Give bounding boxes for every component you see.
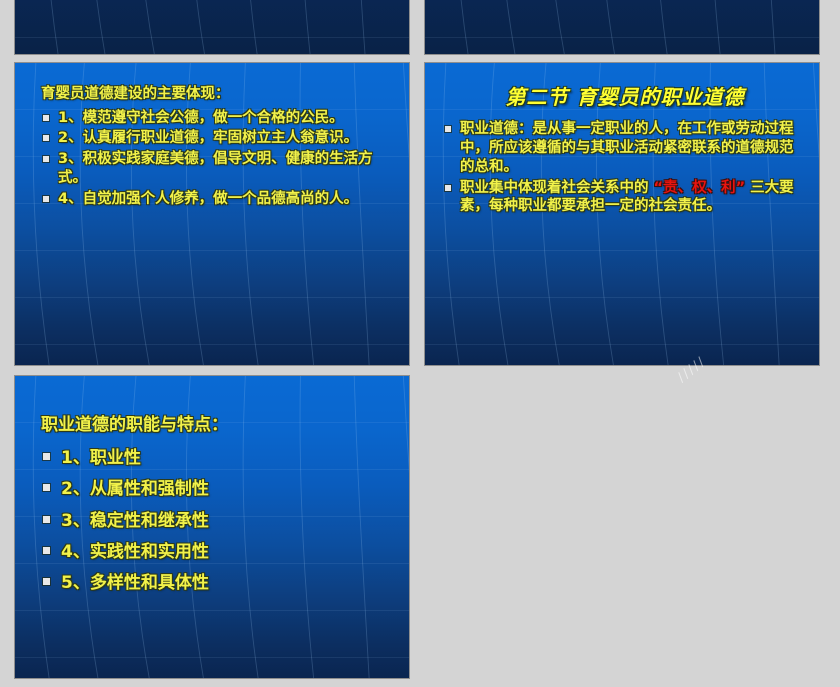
bullet-square-icon [445, 185, 451, 191]
bullet-square-icon [43, 578, 50, 585]
list-item: 1、模范遵守社会公德，做一个合格的公民。 [41, 109, 395, 128]
list-item: 2、认真履行职业道德，牢固树立主人翁意识。 [41, 129, 395, 148]
list-item-label: 4、实践性和实用性 [61, 542, 209, 562]
list-item-label: 3、稳定性和继承性 [61, 511, 209, 531]
bullet-square-icon [43, 453, 50, 460]
empty-slide-slot [424, 375, 820, 679]
list-item-label: 1、模范遵守社会公德，做一个合格的公民。 [58, 110, 344, 126]
list-item-label-part-1: 职业集中体现着社会关系中的 [460, 180, 649, 196]
list-item: 4、实践性和实用性 [41, 539, 395, 565]
list-item-label: 5、多样性和具体性 [61, 573, 209, 593]
slide-thumbnail-moral-construction[interactable]: 育婴员道德建设的主要体现： 1、模范遵守社会公德，做一个合格的公民。 2、认真履… [14, 62, 410, 366]
bullet-list: 1、职业性 2、从属性和强制性 3、稳定性和继承性 4、实践性和实用性 5、多样… [41, 445, 395, 597]
list-item: 3、积极实践家庭美德，倡导文明、健康的生活方式。 [41, 150, 395, 188]
list-item: 5、多样性和具体性 [41, 570, 395, 596]
slide-heading: 职业道德的职能与特点： [41, 414, 395, 437]
slide-thumbnail-functions-features[interactable]: 职业道德的职能与特点： 1、职业性 2、从属性和强制性 3、稳定性和继承性 4、… [14, 375, 410, 679]
bullet-square-icon [43, 516, 50, 523]
bullet-list: 职业道德：是从事一定职业的人，在工作或劳动过程中，所应该遵循的与其职业活动紧密联… [443, 120, 807, 216]
bullet-square-icon [43, 196, 49, 202]
bullet-square-icon [43, 115, 49, 121]
list-item-label: 1、职业性 [61, 448, 141, 468]
bullet-square-icon [445, 126, 451, 132]
list-item-label: 2、认真履行职业道德，牢固树立主人翁意识。 [58, 130, 358, 146]
slide-heading: 育婴员道德建设的主要体现： [41, 85, 395, 105]
list-item: 4、自觉加强个人修养，做一个品德高尚的人。 [41, 190, 395, 209]
slide-content: 第二节 育婴员的职业道德 职业道德：是从事一定职业的人，在工作或劳动过程中，所应… [425, 63, 819, 365]
list-item: 3、稳定性和继承性 [41, 508, 395, 534]
slide-content: 育婴员道德建设的主要体现： 1、模范遵守社会公德，做一个合格的公民。 2、认真履… [15, 63, 409, 365]
list-item: 1、职业性 [41, 445, 395, 471]
list-item: 职业集中体现着社会关系中的 “责、权、利” 三大要素，每种职业都要承担一定的社会… [443, 179, 807, 217]
bullet-square-icon [43, 484, 50, 491]
list-item-label-accent: “责、权、利” [649, 180, 751, 196]
list-item-label: 4、自觉加强个人修养，做一个品德高尚的人。 [58, 191, 358, 207]
bullet-square-icon [43, 156, 49, 162]
bullet-square-icon [43, 135, 49, 141]
list-item: 职业道德：是从事一定职业的人，在工作或劳动过程中，所应该遵循的与其职业活动紧密联… [443, 120, 807, 177]
list-item-label: 职业道德：是从事一定职业的人，在工作或劳动过程中，所应该遵循的与其职业活动紧密联… [460, 121, 794, 175]
slide-content: 职业道德的职能与特点： 1、职业性 2、从属性和强制性 3、稳定性和继承性 4、… [15, 376, 409, 678]
slide-background [15, 0, 409, 54]
slide-background [425, 0, 819, 54]
slide-thumbnail-stub-left[interactable] [14, 0, 410, 55]
slide-thumbnail-section-two[interactable]: 第二节 育婴员的职业道德 职业道德：是从事一定职业的人，在工作或劳动过程中，所应… [424, 62, 820, 366]
list-item-label: 2、从属性和强制性 [61, 479, 209, 499]
list-item: 2、从属性和强制性 [41, 476, 395, 502]
list-item-label: 3、积极实践家庭美德，倡导文明、健康的生活方式。 [58, 151, 373, 186]
bullet-square-icon [43, 547, 50, 554]
slide-title: 第二节 育婴员的职业道德 [443, 85, 807, 110]
slide-thumbnail-stub-right[interactable] [424, 0, 820, 55]
bullet-list: 1、模范遵守社会公德，做一个合格的公民。 2、认真履行职业道德，牢固树立主人翁意… [41, 109, 395, 209]
